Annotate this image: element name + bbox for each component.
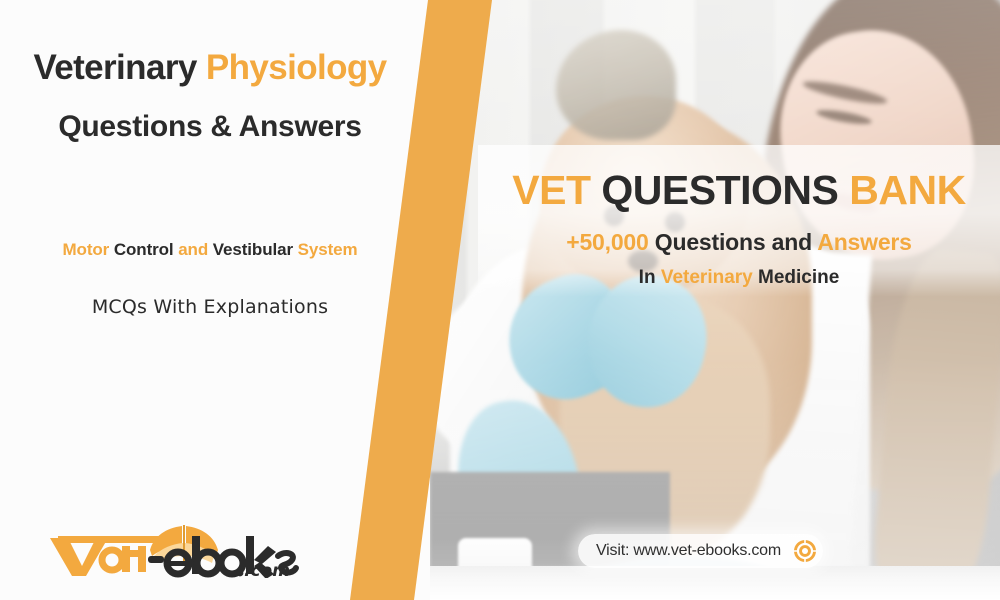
- left-text-block: Veterinary Physiology Questions & Answer…: [0, 0, 420, 600]
- overlay-subline-count: +50,000: [566, 229, 655, 255]
- main-title-part-physiology: Physiology: [206, 48, 387, 87]
- overlay-tagline-medicine: Medicine: [758, 267, 839, 288]
- logo-com-text: .com: [244, 561, 290, 578]
- logo-svg: .com: [42, 516, 302, 578]
- overlay-headline-bank: BANK: [849, 167, 965, 213]
- mcq-note: MCQs With Explanations: [0, 296, 420, 318]
- overlay-headline: VET QUESTIONS BANK: [478, 167, 1000, 214]
- vet-ebooks-logo[interactable]: .com: [42, 516, 302, 578]
- subject-part-control: Control: [114, 240, 178, 259]
- subject-part-vestibular: Vestibular: [213, 240, 298, 259]
- subject-line: Motor Control and Vestibular System: [0, 240, 420, 260]
- overlay-tagline: In Veterinary Medicine: [478, 267, 1000, 289]
- photo-counter-edge: [430, 566, 1000, 600]
- overlay-subline-questions: Questions and: [655, 229, 817, 255]
- visit-url-label: Visit: www.vet-ebooks.com: [596, 542, 781, 560]
- logo-word-vet: [50, 536, 160, 576]
- clinic-photo: [430, 0, 1000, 600]
- subject-part-and: and: [178, 240, 213, 259]
- overlay-subline: +50,000 Questions and Answers: [478, 229, 1000, 256]
- overlay-tagline-veterinary: Veterinary: [661, 267, 758, 288]
- overlay-headline-questions: QUESTIONS: [601, 167, 849, 213]
- main-title-part-veterinary: Veterinary: [33, 48, 205, 87]
- subject-part-motor: Motor: [62, 240, 113, 259]
- globe-target-icon: [793, 539, 817, 563]
- right-overlay-banner: VET QUESTIONS BANK +50,000 Questions and…: [478, 145, 1000, 297]
- main-title: Veterinary Physiology: [0, 48, 420, 88]
- logo-word-com: [237, 570, 244, 577]
- visit-url-pill[interactable]: Visit: www.vet-ebooks.com: [578, 534, 823, 568]
- main-subtitle: Questions & Answers: [0, 110, 420, 144]
- overlay-tagline-in: In: [639, 267, 661, 288]
- overlay-subline-answers: Answers: [817, 229, 911, 255]
- promo-banner: Veterinary Physiology Questions & Answer…: [0, 0, 1000, 600]
- overlay-headline-vet: VET: [512, 167, 601, 213]
- subject-part-system: System: [298, 240, 358, 259]
